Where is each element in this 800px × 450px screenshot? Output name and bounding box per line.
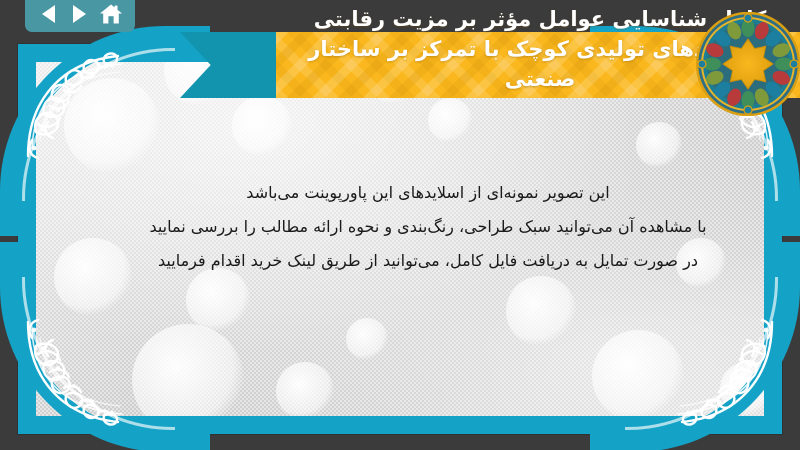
home-button[interactable]: [98, 2, 124, 26]
body-line: در صورت تمایل به دریافت فایل کامل، می‌تو…: [78, 244, 778, 278]
home-icon: [99, 3, 123, 25]
triangle-left-icon: [42, 5, 55, 23]
slide-body-text: این تصویر نمونه‌ای از اسلایدهای این پاور…: [78, 176, 778, 278]
persian-medallion-icon: [696, 12, 800, 116]
body-line: این تصویر نمونه‌ای از اسلایدهای این پاور…: [78, 176, 778, 210]
previous-slide-button[interactable]: [36, 2, 62, 26]
slide-title-ribbon: کامل شناسایی عوامل مؤثر بر مزیت رقابتی د…: [180, 18, 800, 112]
triangle-right-icon: [73, 5, 86, 23]
body-line: با مشاهده آن می‌توانید سبک طراحی، رنگ‌بن…: [78, 210, 778, 244]
next-slide-button[interactable]: [67, 2, 93, 26]
slide-navigation-bar: [25, 0, 135, 32]
slide-viewer: این تصویر نمونه‌ای از اسلایدهای این پاور…: [0, 0, 800, 450]
